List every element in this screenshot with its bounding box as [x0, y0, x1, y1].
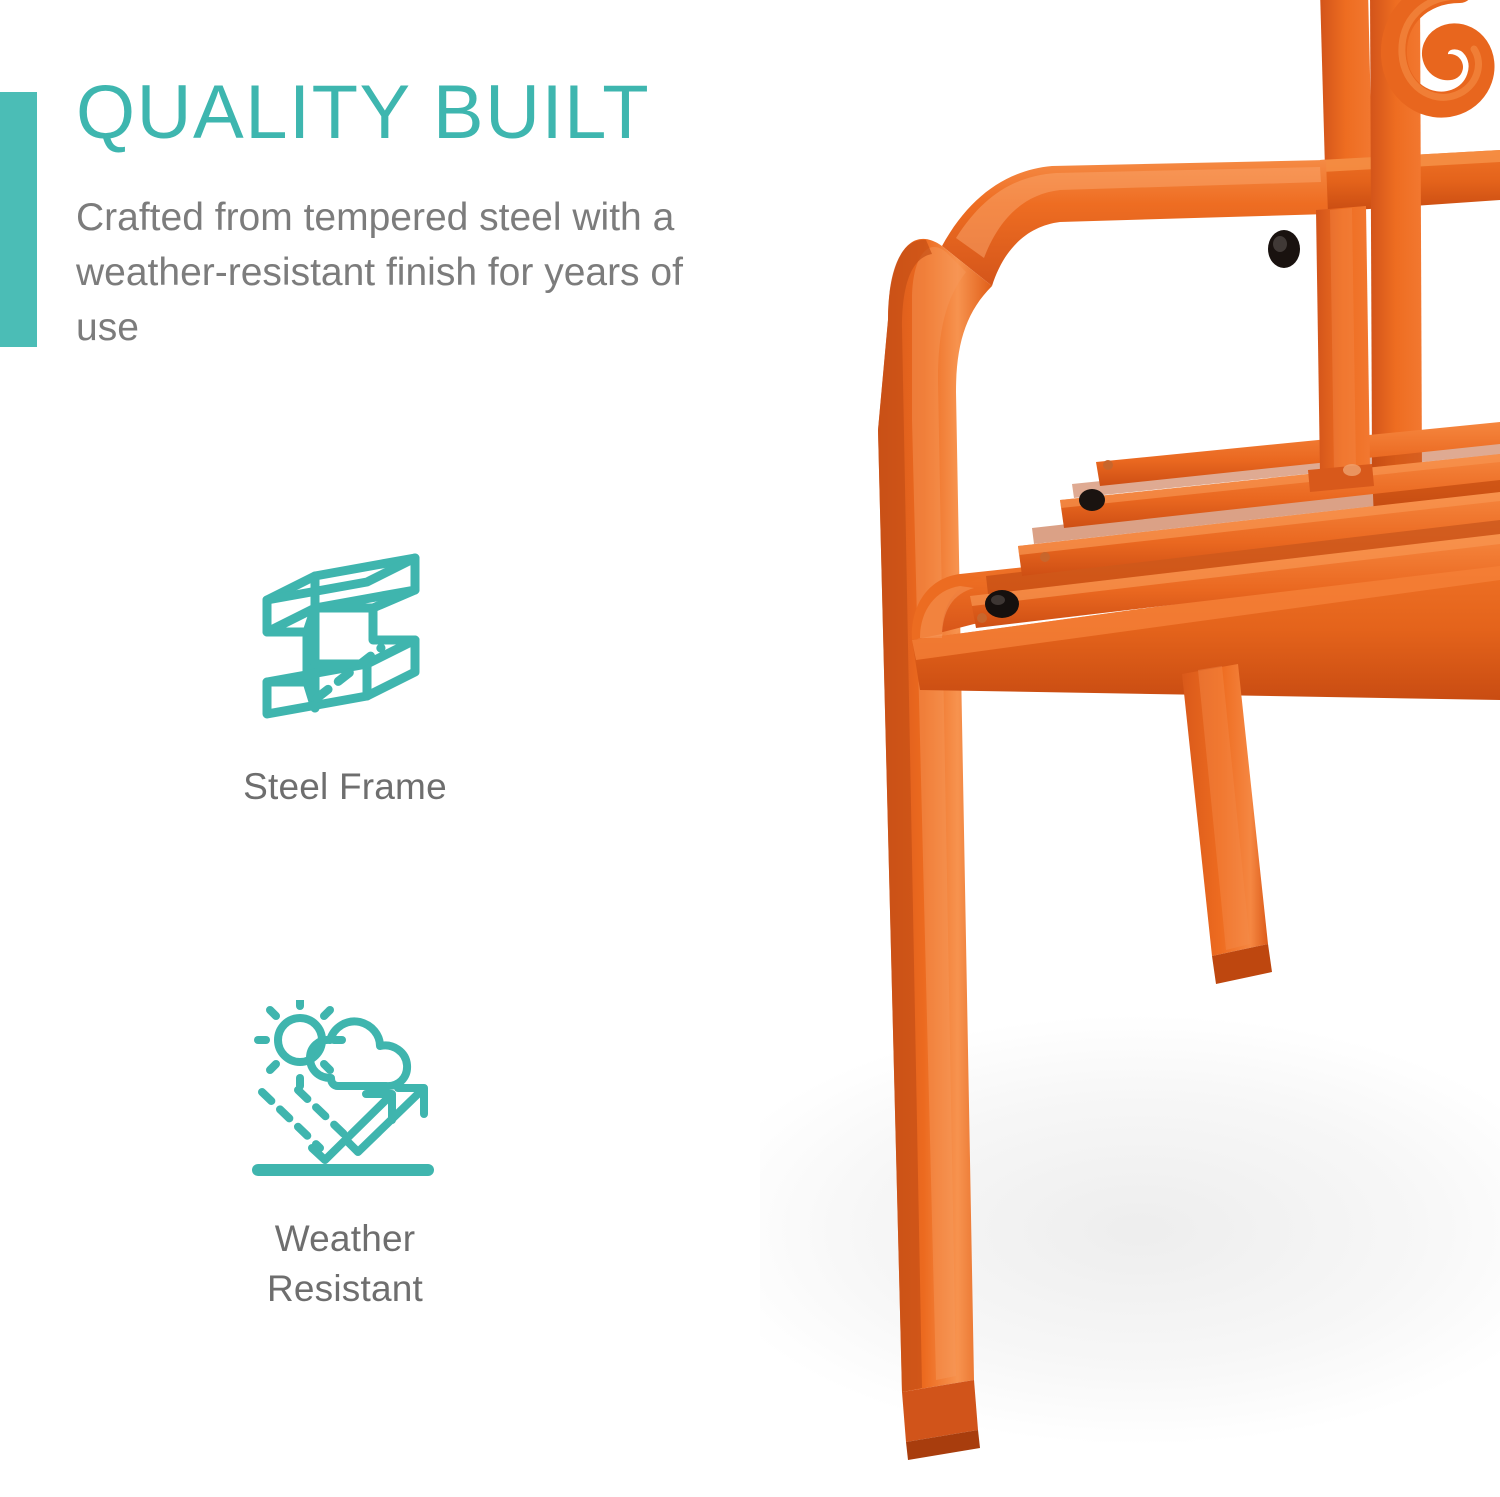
panel-description: Crafted from tempered steel with a weath… — [76, 190, 726, 355]
product-feature-infographic: QUALITY BUILT Crafted from tempered stee… — [0, 0, 1500, 1497]
product-photo — [760, 0, 1500, 1497]
orange-bench-illustration — [760, 0, 1500, 1497]
weather-resistant-icon — [250, 1000, 440, 1180]
feature-weather-resistant: Weather Resistant — [0, 1000, 690, 1314]
accent-bar — [0, 92, 37, 347]
feature-label: Steel Frame — [0, 762, 690, 812]
feature-label-line2: Resistant — [0, 1264, 690, 1314]
feature-label: Weather Resistant — [0, 1214, 690, 1314]
info-panel: QUALITY BUILT Crafted from tempered stee… — [0, 0, 760, 1497]
feature-steel-frame: Steel Frame — [0, 548, 690, 812]
feature-label-line1: Steel Frame — [243, 766, 447, 807]
page-title: QUALITY BUILT — [76, 71, 650, 155]
steel-beam-icon — [255, 548, 435, 728]
feature-label-line1: Weather — [275, 1218, 416, 1259]
